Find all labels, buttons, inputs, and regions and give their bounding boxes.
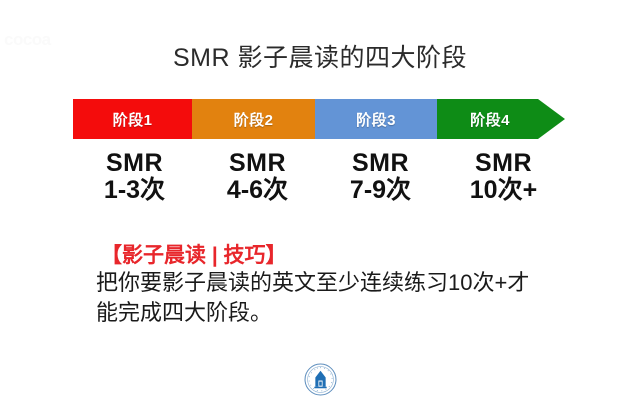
circular-seal-logo-icon (304, 363, 337, 396)
stage-count-3: SMR 7-9次 (319, 150, 442, 220)
slide-canvas: cocoa SMR 影子晨读的四大阶段 阶段1 阶段2 阶段3 阶段4 SMR … (0, 0, 640, 402)
page-title: SMR 影子晨读的四大阶段 (0, 38, 640, 74)
stage-segment-3-label: 阶段3 (356, 109, 396, 130)
tip-body-text: 把你要影子晨读的英文至少连续练习10次+才能完成四大阶段。 (96, 268, 548, 329)
stage-segment-1[interactable]: 阶段1 (73, 99, 192, 139)
stage-count-4-label: SMR (442, 150, 565, 177)
stage-count-1-value: 1-3次 (73, 177, 196, 204)
stage-segment-3[interactable]: 阶段3 (315, 99, 437, 139)
stage-segment-1-label: 阶段1 (113, 109, 153, 130)
stage-segment-2[interactable]: 阶段2 (192, 99, 315, 139)
stage-count-2-label: SMR (196, 150, 319, 177)
stage-count-1-label: SMR (73, 150, 196, 177)
stage-segment-4[interactable]: 阶段4 (437, 99, 565, 139)
stage-count-3-label: SMR (319, 150, 442, 177)
stage-segment-4-label: 阶段4 (470, 109, 510, 130)
stage-count-2-value: 4-6次 (196, 177, 319, 204)
four-stage-chevron-banner: 阶段1 阶段2 阶段3 阶段4 (73, 99, 565, 139)
stage-segment-2-label: 阶段2 (234, 109, 274, 130)
tip-heading: 【影子晨读 | 技巧】 (101, 239, 287, 269)
stage-count-4-value: 10次+ (442, 177, 565, 204)
stage-count-3-value: 7-9次 (319, 177, 442, 204)
stage-count-4: SMR 10次+ (442, 150, 565, 220)
stage-count-1: SMR 1-3次 (73, 150, 196, 220)
stage-count-row: SMR 1-3次 SMR 4-6次 SMR 7-9次 SMR 10次+ (73, 150, 565, 220)
stage-count-2: SMR 4-6次 (196, 150, 319, 220)
